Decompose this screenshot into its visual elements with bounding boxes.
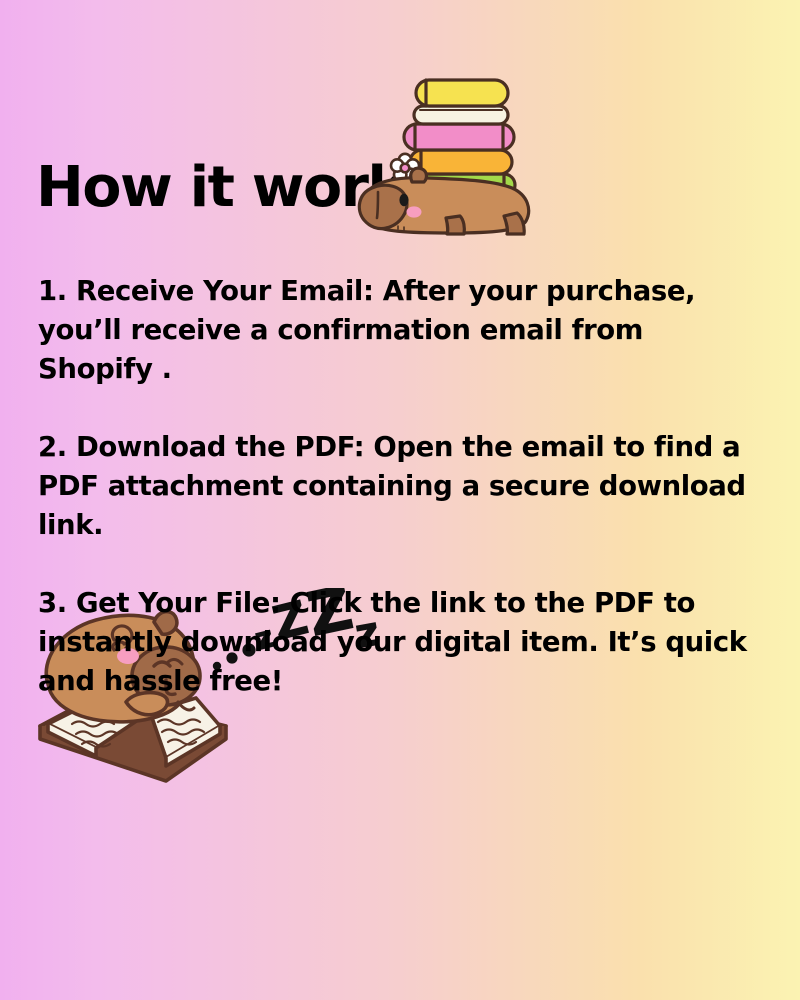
capybara-front-leg	[446, 216, 464, 234]
step-item-1: 1. Receive Your Email: After your purcha…	[38, 272, 764, 389]
capybara-muzzle	[359, 185, 407, 228]
book-third-pink	[404, 124, 514, 150]
capybara-blush	[407, 206, 422, 217]
book-second-cream	[414, 106, 508, 124]
capybara-ear	[411, 168, 427, 182]
capybara-eye	[399, 194, 408, 206]
step-item-2: 2. Download the PDF: Open the email to f…	[38, 428, 764, 545]
capybara-with-books-illustration	[352, 52, 542, 238]
step-item-3: 3. Get Your File: Click the link to the …	[38, 584, 764, 701]
steps-list: 1. Receive Your Email: After your purcha…	[38, 272, 764, 701]
capybara-back-leg	[504, 213, 524, 234]
poster-canvas: How it works	[0, 0, 800, 1000]
muzzle-line	[377, 192, 378, 218]
book-top-yellow	[416, 80, 508, 106]
